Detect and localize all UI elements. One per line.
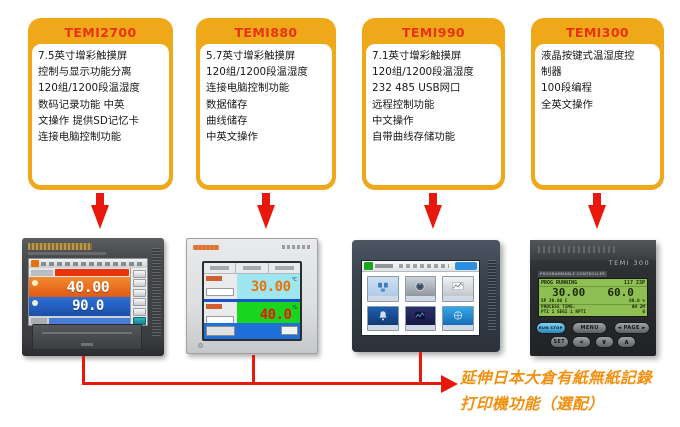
device-keypad[interactable]: RUN STOP MENU ◄ PAGE ► SET « ∨ ∧ [536,321,650,350]
spec-card-body: 7.5英寸增彩触摸屏 控制与显示功能分离 120组/1200段温湿度 数码记录功… [32,44,169,185]
device-image-temi990 [352,240,500,352]
spec-line: 120组/1200段温湿度 [206,64,327,80]
spec-card-body: 液晶按键式温湿度控 制器 100段编程 全英文操作 [535,44,660,185]
device-panel-label: PROGRAMMABLE CONTROLLER [538,271,607,277]
down-arrow-icon [91,193,109,229]
spec-line: 120组/1200段温湿度 [38,80,164,96]
spec-line: 连接电脑控制功能 [206,80,327,96]
down-arrow-icon [424,193,442,229]
spec-line: 连接电脑控制功能 [38,129,164,145]
menu-tile-gauge[interactable] [405,276,437,302]
menu-icon [31,260,39,267]
spec-line: 控制与显示功能分离 [38,64,164,80]
down-arrow-icon [257,193,275,229]
device-top-housing [530,240,656,260]
spec-line: 文操作 提供SD记忆卡 [38,113,164,129]
status-readout [206,326,235,336]
side-button[interactable] [133,289,146,297]
down-arrow-button[interactable]: ∨ [595,336,614,347]
humidity-unit: % [292,305,297,311]
temperature-panel: 30.00 ℃ [204,274,300,299]
device-model-label [282,245,312,249]
network-icon [449,310,467,323]
set-button[interactable]: SET [550,336,569,347]
temperature-indicator-icon [32,280,38,286]
temperature-unit: ℃ [292,277,298,283]
lcd-temperature-setpoint: SP 30.00 C [541,299,567,304]
device-brand-label: TEMI 300 [609,259,650,267]
down-arrow-icon [588,193,606,229]
spec-card-title: TEMI300 [535,22,660,44]
left-arrow-button[interactable]: « [572,336,591,347]
menu-tile-grid[interactable] [362,272,479,335]
spec-card-temi990: TEMI990 7.1英寸增彩触摸屏 120组/1200段温湿度 232 485… [362,18,505,190]
header-banner [55,269,129,276]
lcd-segment-value: 0 [642,310,645,315]
caption-line-2: 打印機功能（選配） [460,392,604,416]
spec-line: 液晶按键式温湿度控 [541,48,655,64]
spec-line: 远程控制功能 [372,97,496,113]
menu-tile-trend[interactable] [405,306,437,332]
connector-line-vertical [419,352,422,384]
vent-grille [538,246,619,253]
temperature-value: 40.00 [67,278,110,296]
connector-line-vertical [252,355,255,384]
up-arrow-button[interactable]: ∧ [617,336,636,347]
lcd-humidity-setpoint: 60.0 % [629,299,645,304]
connector-arrow-icon [441,375,458,393]
tile-caption [368,325,398,330]
screen-tab[interactable] [204,263,236,273]
screen-menubar [29,259,147,268]
spec-card-body: 7.1英寸增彩触摸屏 120组/1200段温湿度 232 485 USB网口 远… [366,44,501,185]
topbar-title [399,264,449,268]
spec-line: 7.5英寸增彩触摸屏 [38,48,164,64]
humidity-value: 90.0 [72,298,104,314]
humidity-value: 40.0 [260,307,292,323]
device-brand-strip [28,243,92,250]
spec-line: 120组/1200段温湿度 [372,64,496,80]
keypad-row-bottom: SET « ∨ ∧ [536,335,650,349]
tile-caption [443,296,473,301]
spec-card-title: TEMI990 [366,22,501,44]
spec-line: 自带曲线存储功能 [372,129,496,145]
screen-tab-bar[interactable] [204,263,300,274]
keypad-row-top: RUN STOP MENU ◄ PAGE ► [536,321,650,335]
device-screen: 30.00 ℃ 40.0 % [202,261,302,341]
device-screen: 40.00 90.0 [28,258,148,326]
spec-line: 全英文操作 [541,97,655,113]
side-button[interactable] [133,279,146,287]
side-button[interactable] [133,298,146,306]
temperature-value: 30.00 [251,279,291,295]
lcd-value-row: 30.00 60.0 [539,287,647,299]
tile-caption [443,325,473,330]
run-stop-button[interactable]: RUN STOP [536,322,566,333]
device-lcd-screen: PROG RUNNING 117 23P 30.00 60.0 SP 30.00… [538,278,648,316]
screen-topbar [362,261,479,272]
device-screen [361,260,480,336]
spec-card-title: TEMI880 [200,22,332,44]
menu-tile-alarm[interactable] [367,306,399,332]
spec-card-temi300: TEMI300 液晶按键式温湿度控 制器 100段编程 全英文操作 [531,18,664,190]
gauge-icon [411,281,429,294]
device-image-temi2700: 40.00 90.0 [22,238,164,356]
screen-side-buttons[interactable] [130,268,147,325]
device-model-strip [28,252,106,255]
tile-caption [406,325,436,330]
controller-icon [374,281,392,294]
trend-icon [411,310,429,323]
spec-line: 制器 [541,64,655,80]
spec-line: 100段编程 [541,80,655,96]
spec-line: 7.1英寸增彩触摸屏 [372,48,496,64]
lcd-segment-label: PTI 1 SEGI 1 RPTI [541,310,586,315]
spec-line: 数据储存 [206,97,327,113]
temperature-readout: 30.00 ℃ [237,274,301,299]
topbar-button[interactable] [455,262,477,270]
caption-line-1: 延伸日本大倉有紙無紙記錄 [460,366,652,390]
home-icon[interactable] [364,262,373,270]
screen-tab[interactable] [269,263,300,273]
device-image-temi880: 30.00 ℃ 40.0 % [186,238,318,354]
lcd-temperature-value: 30.00 [552,287,585,299]
spec-card-temi2700: TEMI2700 7.5英寸增彩触摸屏 控制与显示功能分离 120组/1200段… [28,18,173,190]
chart-icon [449,281,467,294]
spec-card-temi880: TEMI880 5.7英寸增彩触摸屏 120组/1200段温湿度 连接电脑控制功… [196,18,336,190]
device-image-temi300: TEMI 300 PROGRAMMABLE CONTROLLER PROG RU… [530,240,656,356]
spec-line: 数码记录功能 中英 [38,97,164,113]
device-logo [193,245,219,250]
spec-card-body: 5.7英寸增彩触摸屏 120组/1200段温湿度 连接电脑控制功能 数据储存 曲… [200,44,332,185]
page-button[interactable]: ◄ PAGE ► [614,322,650,333]
topbar-label [375,264,393,268]
spec-line: 中英文操作 [206,129,327,145]
side-button[interactable] [133,308,146,316]
connector-line-vertical [82,356,85,384]
screen-bottom-bar [204,323,300,340]
temperature-label [206,276,222,281]
menu-tile-network[interactable] [442,306,474,332]
lcd-humidity-value: 60.0 [607,287,634,299]
action-button[interactable] [281,326,298,335]
header-tag [31,270,53,276]
vent-grille [152,248,161,338]
infographic-canvas: TEMI2700 7.5英寸增彩触摸屏 控制与显示功能分离 120组/1200段… [0,0,680,427]
humidity-indicator-icon [32,300,38,306]
side-button[interactable] [133,270,146,278]
tile-caption [368,296,398,301]
menu-tile-chart[interactable] [442,276,474,302]
bell-icon [374,310,392,323]
printer-drawer[interactable] [32,324,142,350]
humidity-label [206,304,222,309]
lcd-segment-row: PTI 1 SEGI 1 RPTI 0 [539,310,647,315]
menu-tile-settings[interactable] [367,276,399,302]
spec-line: 曲线储存 [206,113,327,129]
menu-button[interactable]: MENU [572,322,606,333]
temperature-setpoint-field[interactable] [206,288,234,296]
spec-line: 中文操作 [372,113,496,129]
screen-tab[interactable] [236,263,268,273]
vent-grille [488,260,496,329]
menu-text-strip [41,262,146,266]
spec-line: 5.7英寸增彩触摸屏 [206,48,327,64]
connector-line-horizontal [82,382,448,385]
tile-caption [406,296,436,301]
temperature-label-block [204,274,237,299]
spec-line: 232 485 USB网口 [372,80,496,96]
spec-card-title: TEMI2700 [32,22,169,44]
